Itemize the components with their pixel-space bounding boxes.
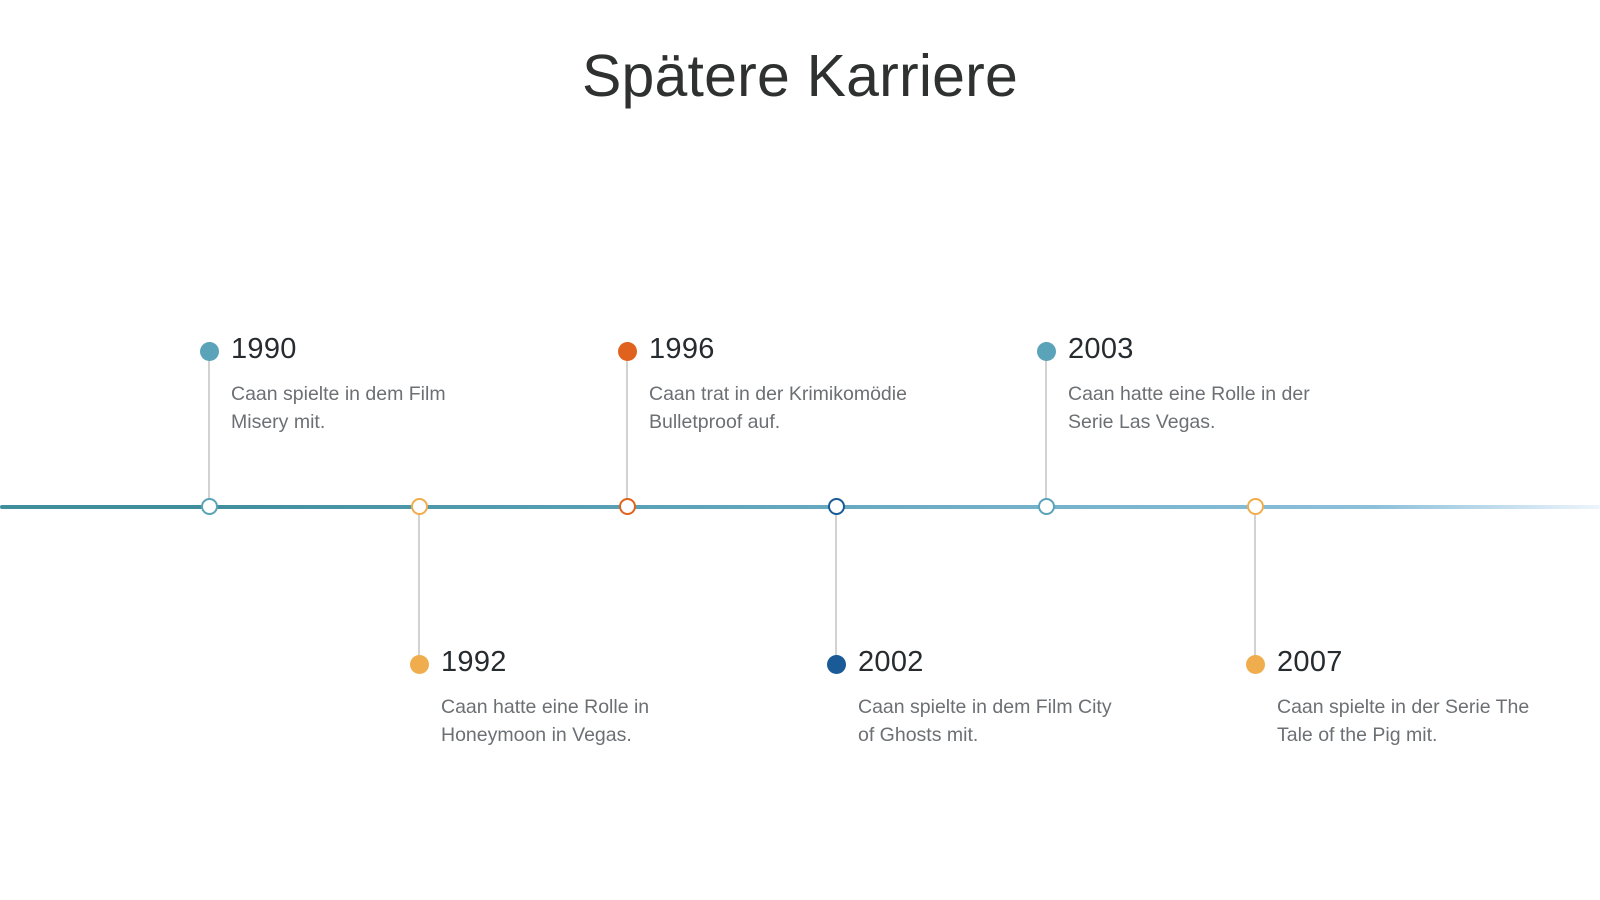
event-year-label: 2002: [858, 648, 1118, 677]
event-description: Caan spielte in dem Film Misery mit.: [231, 381, 491, 436]
event-text-block: 1996Caan trat in der Krimikomödie Bullet…: [649, 335, 909, 436]
event-text-block: 2003Caan hatte eine Rolle in der Serie L…: [1068, 335, 1328, 436]
event-text-block: 1990Caan spielte in dem Film Misery mit.: [231, 335, 491, 436]
event-bullet-icon: [200, 342, 219, 361]
timeline-slide: Spätere Karriere 1990Caan spielte in dem…: [0, 0, 1600, 900]
page-title: Spätere Karriere: [0, 44, 1600, 109]
event-bullet-icon: [618, 342, 637, 361]
event-description: Caan spielte in der Serie The Tale of th…: [1277, 694, 1537, 749]
event-text-block: 2007Caan spielte in der Serie The Tale o…: [1277, 648, 1537, 749]
event-connector-stem: [418, 508, 420, 664]
event-year-label: 2007: [1277, 648, 1537, 677]
event-connector-stem: [1045, 351, 1047, 507]
event-connector-stem: [626, 351, 628, 507]
event-connector-stem: [208, 351, 210, 507]
event-description: Caan trat in der Krimikomödie Bulletproo…: [649, 381, 909, 436]
event-bullet-icon: [410, 655, 429, 674]
event-description: Caan hatte eine Rolle in der Serie Las V…: [1068, 381, 1328, 436]
event-year-label: 1996: [649, 335, 909, 364]
event-description: Caan spielte in dem Film City of Ghosts …: [858, 694, 1118, 749]
event-bullet-icon: [827, 655, 846, 674]
event-year-label: 2003: [1068, 335, 1328, 364]
axis-marker-ring-icon[interactable]: [828, 498, 845, 515]
axis-marker-ring-icon[interactable]: [1038, 498, 1055, 515]
event-description: Caan hatte eine Rolle in Honeymoon in Ve…: [441, 694, 701, 749]
axis-marker-ring-icon[interactable]: [1247, 498, 1264, 515]
axis-marker-ring-icon[interactable]: [619, 498, 636, 515]
event-connector-stem: [835, 508, 837, 664]
event-bullet-icon: [1037, 342, 1056, 361]
event-year-label: 1990: [231, 335, 491, 364]
event-text-block: 1992Caan hatte eine Rolle in Honeymoon i…: [441, 648, 701, 749]
event-text-block: 2002Caan spielte in dem Film City of Gho…: [858, 648, 1118, 749]
event-connector-stem: [1254, 508, 1256, 664]
event-year-label: 1992: [441, 648, 701, 677]
axis-marker-ring-icon[interactable]: [201, 498, 218, 515]
axis-marker-ring-icon[interactable]: [411, 498, 428, 515]
event-bullet-icon: [1246, 655, 1265, 674]
timeline-axis: [0, 505, 1600, 509]
